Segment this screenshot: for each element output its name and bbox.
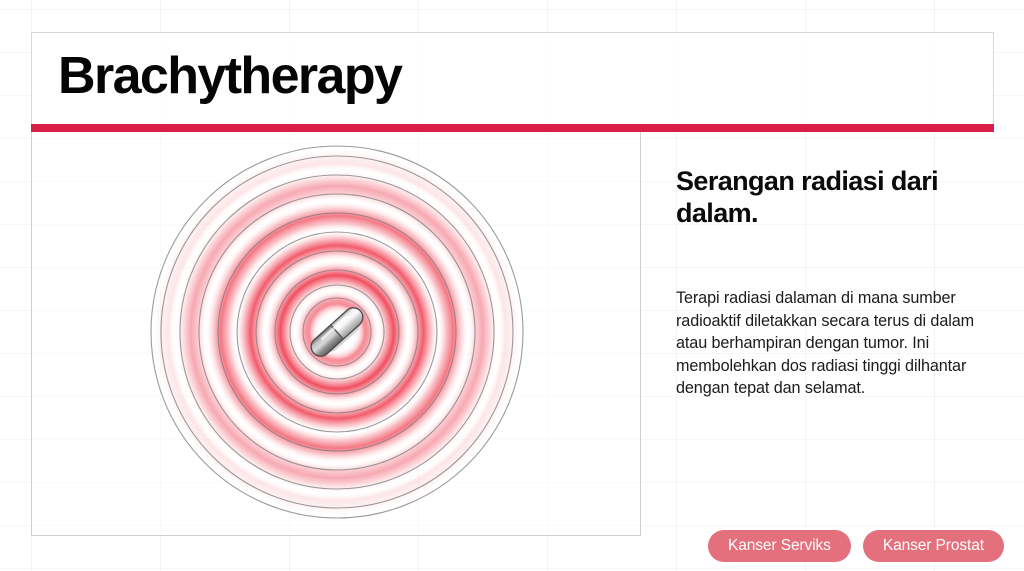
figure-panel xyxy=(31,132,641,536)
radiation-source-diagram xyxy=(32,132,641,536)
page-title: Brachytherapy xyxy=(58,50,401,102)
text-column: Serangan radiasi dari dalam. Terapi radi… xyxy=(676,132,994,536)
title-block: Brachytherapy xyxy=(31,32,994,124)
accent-rule-divider xyxy=(31,124,994,132)
tag-kanser-prostat[interactable]: Kanser Prostat xyxy=(863,530,1004,562)
tag-row: Kanser Serviks Kanser Prostat xyxy=(708,530,1004,562)
body-description: Terapi radiasi dalaman di mana sumber ra… xyxy=(676,287,976,400)
section-heading: Serangan radiasi dari dalam. xyxy=(676,166,976,229)
tag-kanser-serviks[interactable]: Kanser Serviks xyxy=(708,530,851,562)
slide-background: Brachytherapy xyxy=(0,0,1024,571)
content-card: Brachytherapy xyxy=(31,32,994,536)
